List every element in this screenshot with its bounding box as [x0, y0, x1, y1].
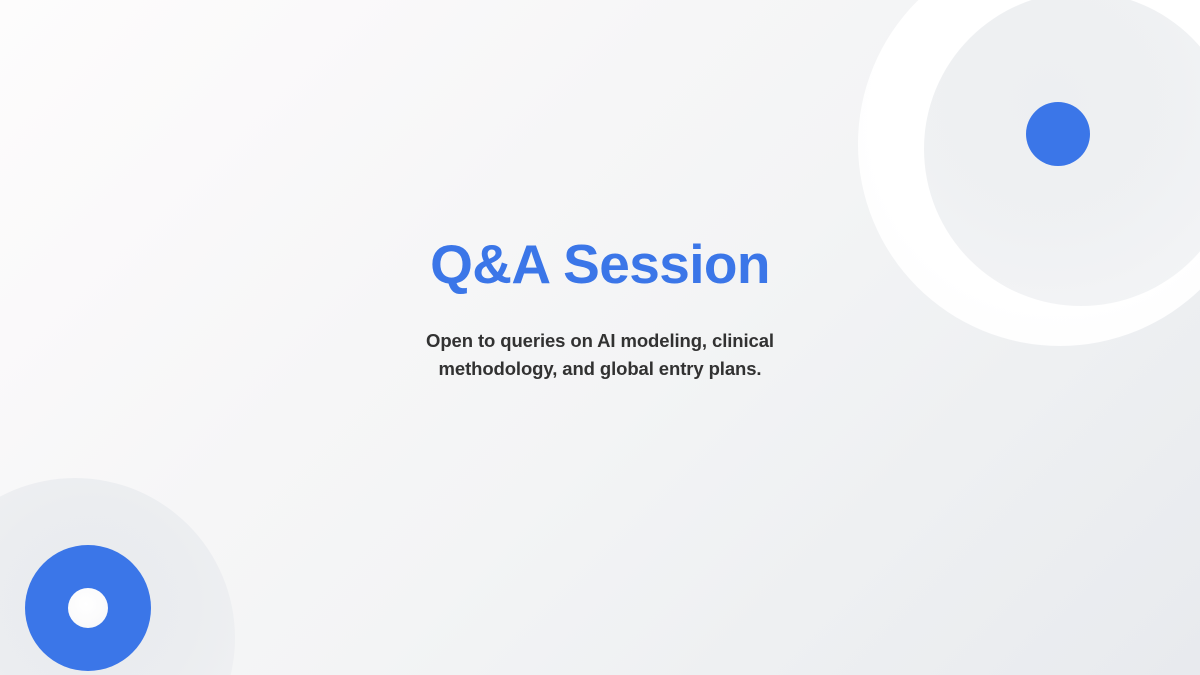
slide-subtitle-line-2: methodology, and global entry plans.	[439, 358, 762, 379]
slide-subtitle: Open to queries on AI modeling, clinical…	[426, 327, 774, 383]
slide-content: Q&A Session Open to queries on AI modeli…	[0, 0, 1200, 675]
slide-subtitle-line-1: Open to queries on AI modeling, clinical	[426, 330, 774, 351]
slide-title: Q&A Session	[430, 236, 770, 294]
presentation-slide: Q&A Session Open to queries on AI modeli…	[0, 0, 1200, 675]
slide-content-inner: Q&A Session Open to queries on AI modeli…	[426, 236, 774, 384]
